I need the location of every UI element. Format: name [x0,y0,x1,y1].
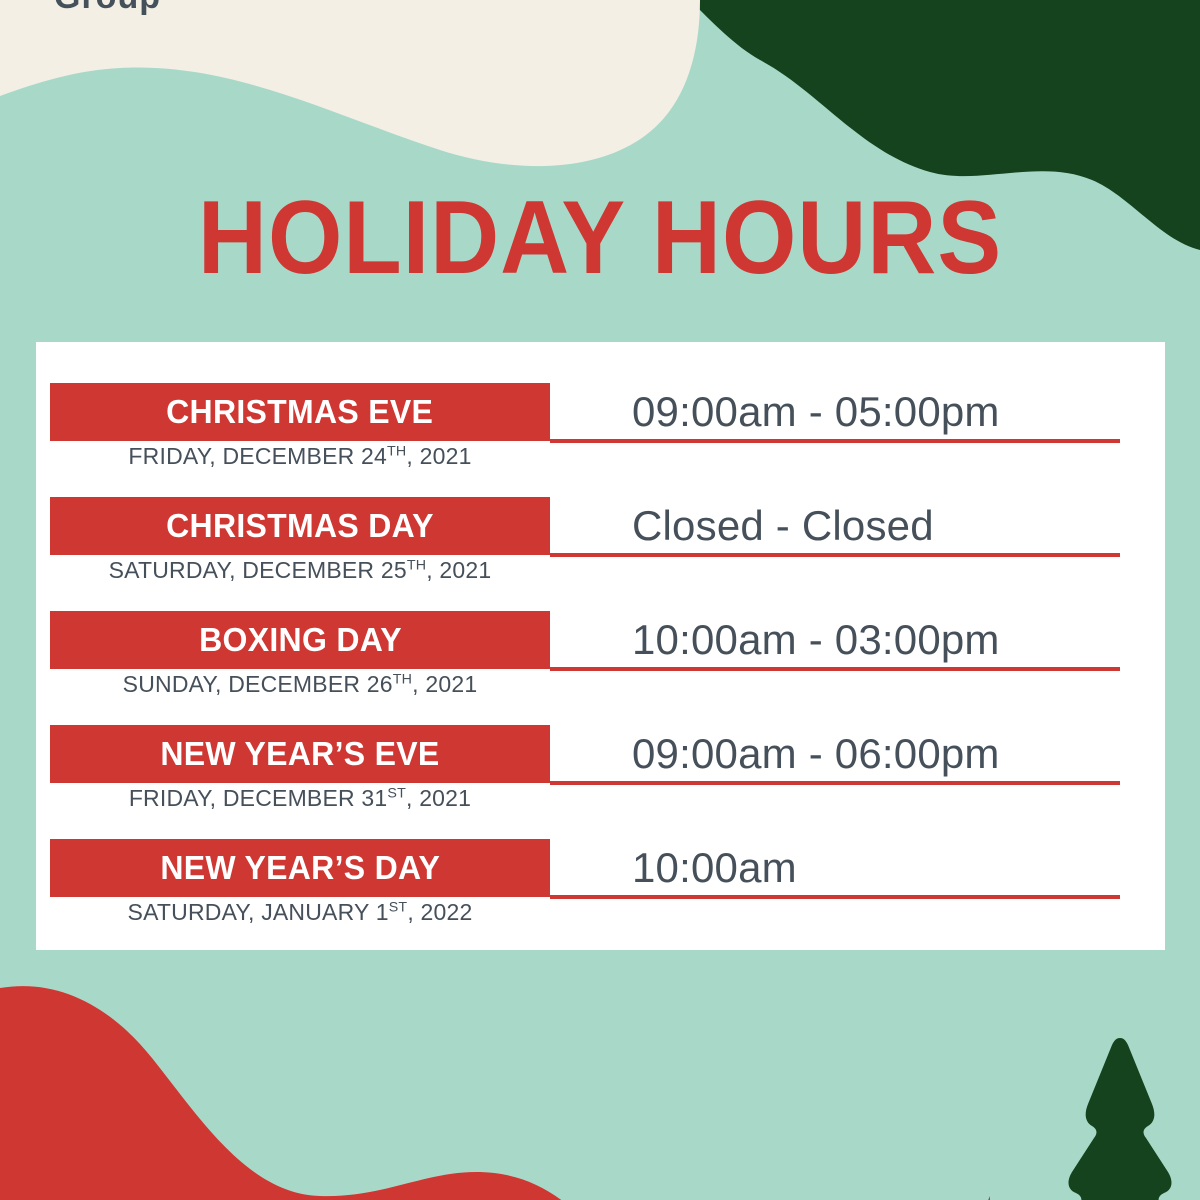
hours-underline [550,553,1120,557]
holiday-name: BOXING DAY [199,621,402,659]
date-month-day: JANUARY 1 [261,899,389,925]
date-weekday: FRIDAY, [128,443,222,469]
hours-value: 10:00am - 03:00pm [550,616,1000,664]
hours-value: 09:00am - 05:00pm [550,388,1000,436]
date-month-day: DECEMBER 24 [222,443,387,469]
date-year: , 2021 [406,443,471,469]
holiday-name-bar: NEW YEAR’S EVE [50,725,550,783]
date-ordinal: TH [407,557,426,573]
date-month-day: DECEMBER 31 [223,785,388,811]
holiday-date: FRIDAY, DECEMBER 24TH, 2021 [50,443,550,470]
date-ordinal: ST [387,785,406,801]
table-row: NEW YEAR’S DAY SATURDAY, JANUARY 1ST, 20… [36,839,1165,953]
hours-underline [550,667,1120,671]
holiday-name-bar: CHRISTMAS DAY [50,497,550,555]
date-weekday: SUNDAY, [123,671,229,697]
holiday-name: CHRISTMAS EVE [166,393,433,431]
date-ordinal: ST [389,899,408,915]
date-year: , 2021 [426,557,491,583]
hours-cell: 09:00am - 05:00pm [550,383,1120,441]
holiday-date: SUNDAY, DECEMBER 26TH, 2021 [50,671,550,698]
date-weekday: SATURDAY, [128,899,262,925]
holiday-name-bar: CHRISTMAS EVE [50,383,550,441]
hours-value: 09:00am - 06:00pm [550,730,1000,778]
holiday-name-bar: NEW YEAR’S DAY [50,839,550,897]
holiday-date: SATURDAY, JANUARY 1ST, 2022 [50,899,550,926]
holiday-date: SATURDAY, DECEMBER 25TH, 2021 [50,557,550,584]
hours-cell: 09:00am - 06:00pm [550,725,1120,783]
date-month-day: DECEMBER 25 [242,557,407,583]
date-ordinal: TH [393,671,412,687]
table-row: BOXING DAY SUNDAY, DECEMBER 26TH, 2021 1… [36,611,1165,725]
table-row: CHRISTMAS DAY SATURDAY, DECEMBER 25TH, 2… [36,497,1165,611]
holiday-name: NEW YEAR’S DAY [160,849,440,887]
date-year: , 2021 [412,671,477,697]
hours-value: Closed - Closed [550,502,934,550]
hours-value: 10:00am [550,844,797,892]
holiday-name: CHRISTMAS DAY [166,507,434,545]
holiday-hours-poster: Group HOLIDAY HOURS CHRISTMAS EVE FRIDAY… [0,0,1200,1200]
date-weekday: FRIDAY, [129,785,223,811]
hours-cell: Closed - Closed [550,497,1120,555]
page-title: HOLIDAY HOURS [48,186,1152,290]
hours-underline [550,781,1120,785]
table-row: CHRISTMAS EVE FRIDAY, DECEMBER 24TH, 202… [36,383,1165,497]
hours-underline [550,439,1120,443]
table-row: NEW YEAR’S EVE FRIDAY, DECEMBER 31ST, 20… [36,725,1165,839]
hours-underline [550,895,1120,899]
hours-cell: 10:00am - 03:00pm [550,611,1120,669]
date-year: , 2021 [406,785,471,811]
holiday-date: FRIDAY, DECEMBER 31ST, 2021 [50,785,550,812]
holiday-name-bar: BOXING DAY [50,611,550,669]
holiday-name: NEW YEAR’S EVE [160,735,439,773]
partial-top-text: Group [54,0,161,17]
schedule-card: CHRISTMAS EVE FRIDAY, DECEMBER 24TH, 202… [36,342,1165,950]
date-weekday: SATURDAY, [109,557,243,583]
date-year: , 2022 [407,899,472,925]
date-month-day: DECEMBER 26 [228,671,393,697]
date-ordinal: TH [387,443,406,459]
hours-cell: 10:00am [550,839,1120,897]
